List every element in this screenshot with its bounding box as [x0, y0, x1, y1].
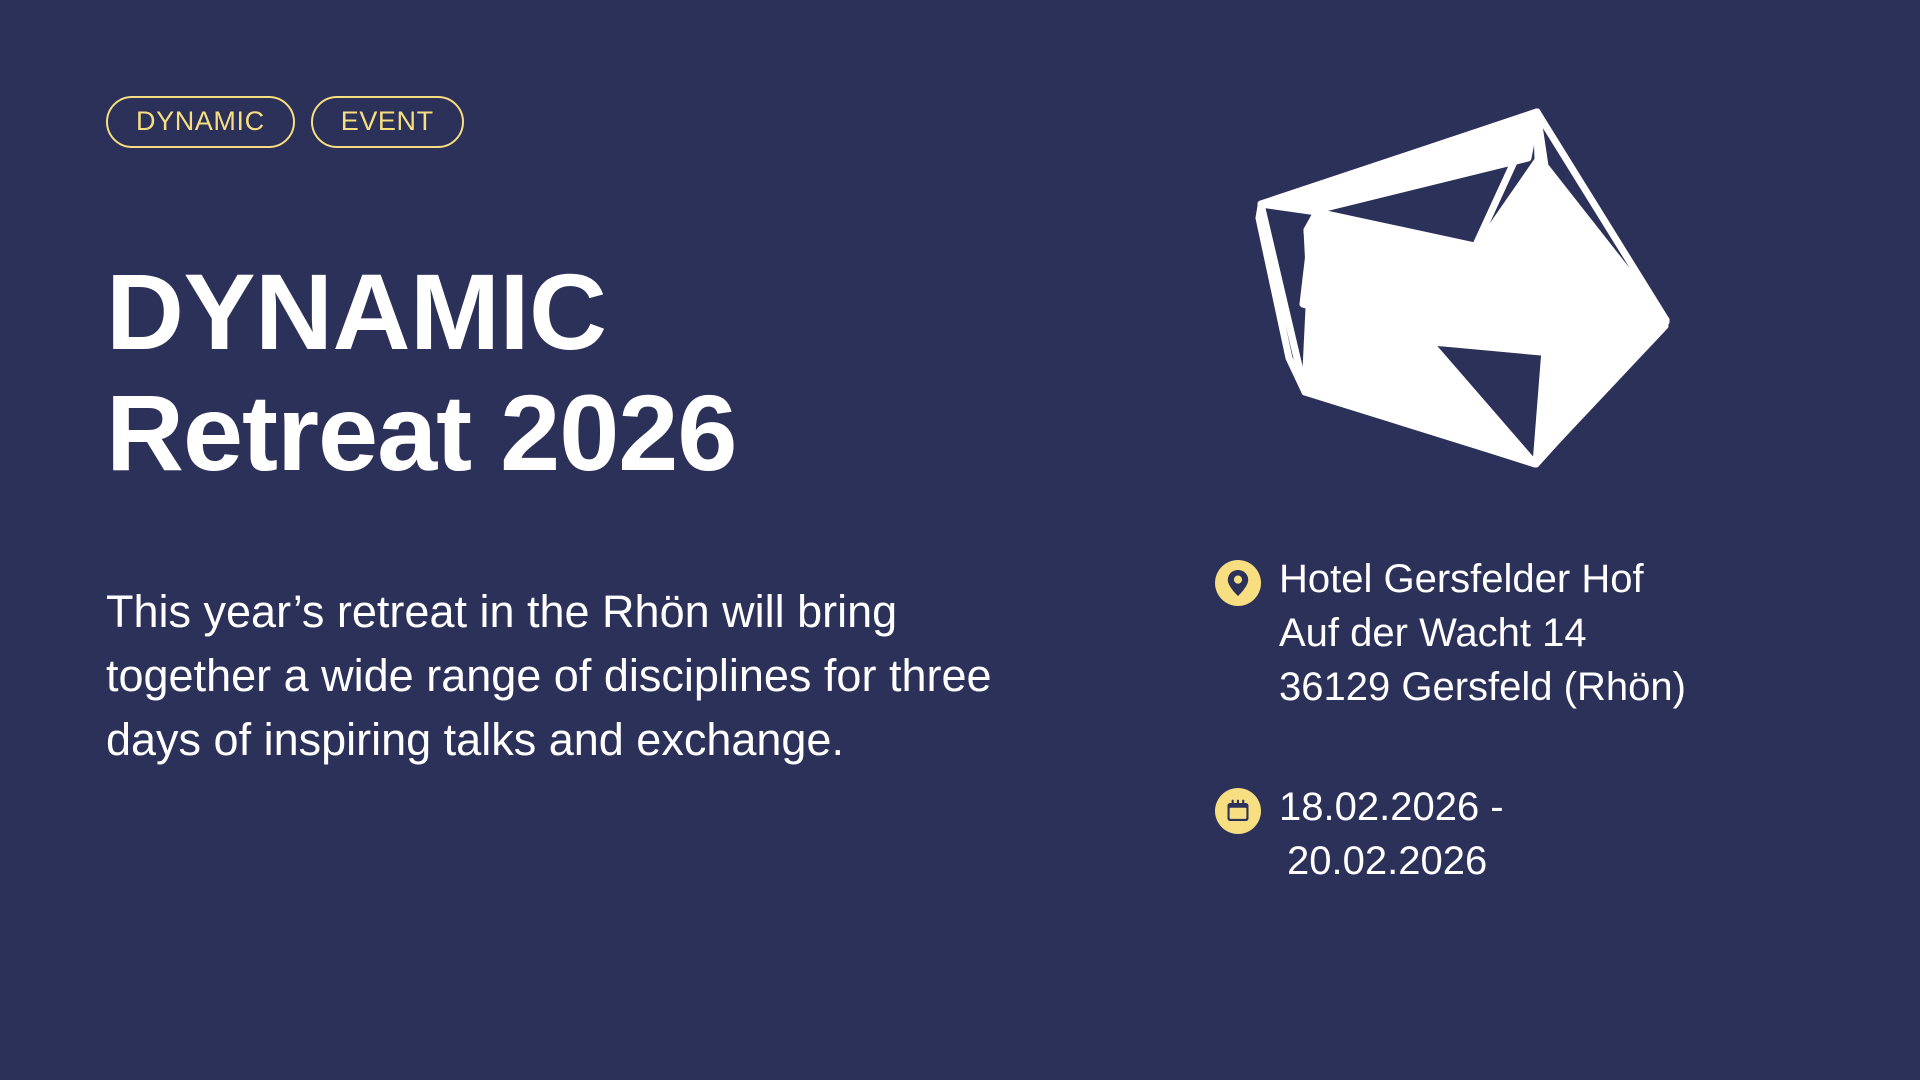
event-poster-slide: DYNAMIC EVENT DYNAMIC Retreat 2026 This … — [0, 0, 1920, 1080]
page-title: DYNAMIC Retreat 2026 — [106, 252, 1106, 494]
date-end-line: 20.02.2026 — [1279, 834, 1504, 888]
left-content-column: DYNAMIC EVENT DYNAMIC Retreat 2026 This … — [106, 96, 1106, 772]
venue-city: 36129 Gersfeld (Rhön) — [1279, 660, 1686, 714]
location-pin-icon — [1215, 560, 1261, 606]
right-content-column: Hotel Gersfelder Hof Auf der Wacht 14 36… — [1215, 90, 1865, 888]
venue-address: Hotel Gersfelder Hof Auf der Wacht 14 36… — [1279, 552, 1686, 714]
date-info-block: 18.02.2026 - 20.02.2026 — [1215, 780, 1865, 888]
headline-line-1: DYNAMIC — [106, 252, 1106, 373]
event-date-range: 18.02.2026 - 20.02.2026 — [1279, 780, 1504, 888]
venue-info-block: Hotel Gersfelder Hof Auf der Wacht 14 36… — [1215, 552, 1865, 714]
venue-street: Auf der Wacht 14 — [1279, 606, 1686, 660]
event-description: This year’s retreat in the Rhön will bri… — [106, 580, 1046, 772]
tag-event[interactable]: EVENT — [311, 96, 464, 148]
headline-line-2: Retreat 2026 — [106, 373, 1106, 494]
date-start-line: 18.02.2026 - — [1279, 780, 1504, 834]
calendar-icon — [1215, 788, 1261, 834]
tag-row: DYNAMIC EVENT — [106, 96, 1106, 148]
tag-dynamic[interactable]: DYNAMIC — [106, 96, 295, 148]
venue-name: Hotel Gersfelder Hof — [1279, 552, 1686, 606]
polyhedron-crystal-logo — [1245, 90, 1675, 490]
